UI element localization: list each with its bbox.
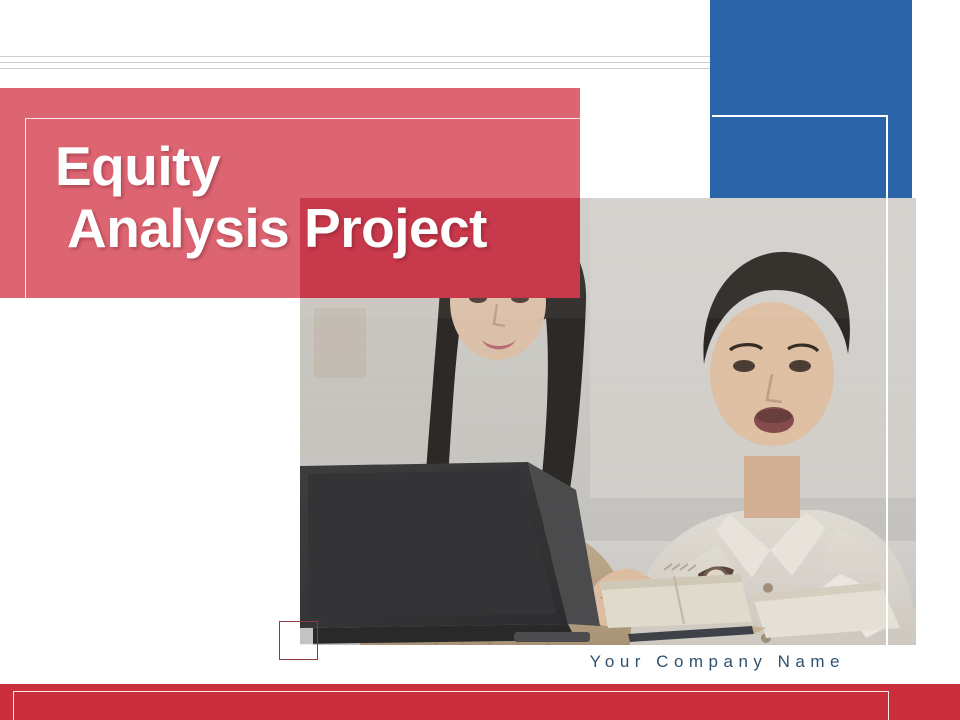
decor-rule-3 — [0, 68, 722, 69]
blue-frame-vertical-line — [886, 115, 888, 647]
accent-square-inner — [286, 628, 313, 655]
title-line-1: Equity — [55, 135, 220, 197]
blue-frame-outline — [712, 115, 888, 645]
page-title: Equity Analysis Project — [55, 136, 575, 259]
company-name: Your Company Name — [0, 652, 845, 672]
decor-rule-2 — [0, 62, 722, 63]
footer-bar-frame — [13, 691, 889, 720]
decor-rule-1 — [0, 56, 722, 57]
title-slide: Equity Analysis Project Your Company Nam… — [0, 0, 960, 720]
title-line-2: Analysis Project — [55, 198, 575, 260]
